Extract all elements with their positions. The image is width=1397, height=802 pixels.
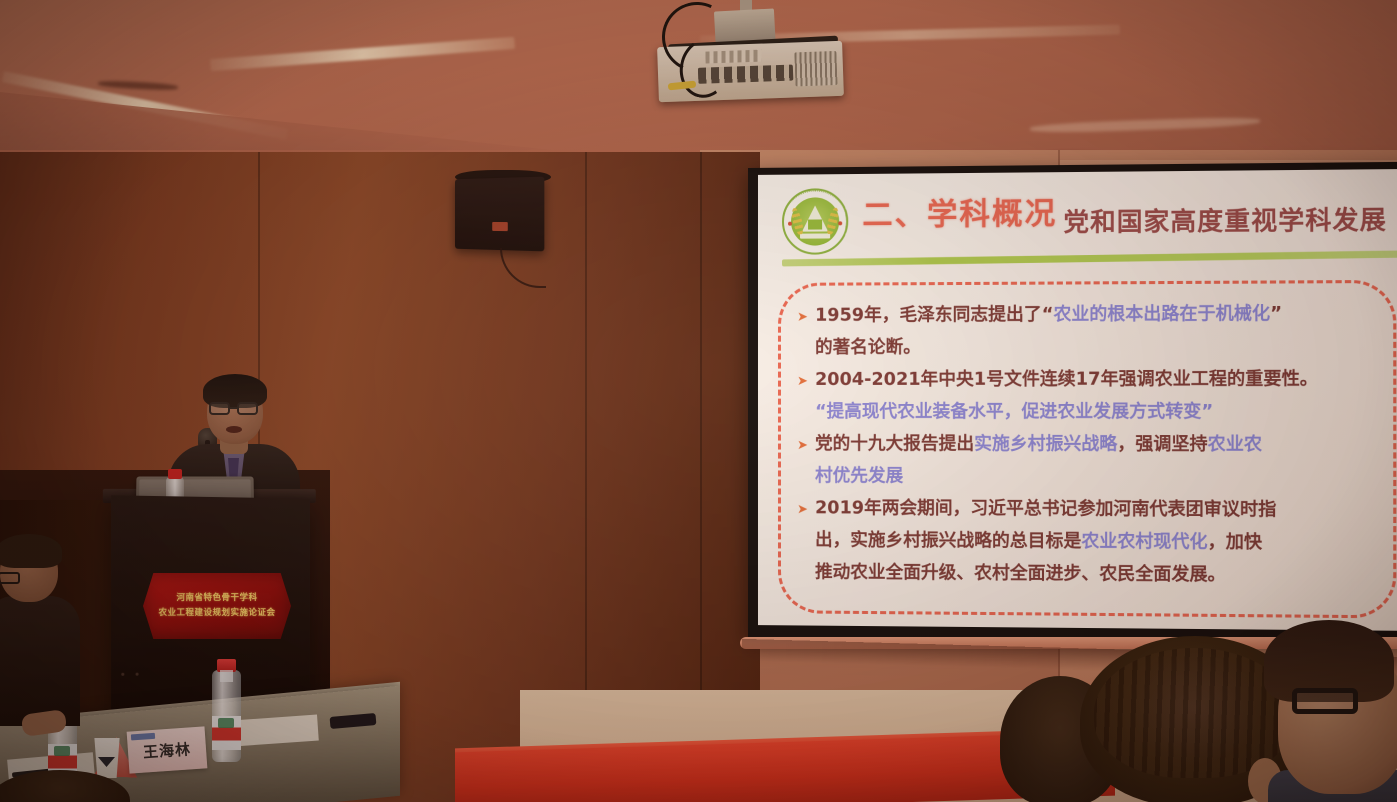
water-bottle	[212, 670, 241, 762]
slide-bullet-line: “提高现代农业装备水平，促进农业发展方式转变”	[798, 397, 1384, 429]
bottle-neck	[220, 670, 233, 682]
wall-speaker	[455, 177, 544, 252]
seated-person-body	[0, 596, 80, 726]
bullet-text: ”	[1270, 304, 1282, 324]
projector-vent	[794, 51, 837, 86]
ceiling-vent	[1030, 116, 1260, 134]
emblem-ring-text	[784, 190, 846, 253]
seated-person-left	[0, 540, 80, 720]
ceiling-projector	[640, 0, 860, 110]
presenter-glasses-bridge	[230, 407, 239, 409]
bullet-text: ，强调坚持	[1117, 434, 1207, 454]
bullet-text: 1959年，毛泽东同志提出了“	[815, 305, 1053, 326]
podium-banner: 河南省特色骨干学科 农业工程建设规划实施论证会	[143, 573, 291, 639]
emblem-star-right	[838, 221, 842, 225]
slide-bullet-line: 推动农业全面升级、农村全面进步、农民全面发展。	[798, 557, 1384, 592]
name-card-text: 王海林	[142, 738, 191, 762]
bullet-text: ，加快	[1208, 532, 1262, 553]
bullet-text: 2019年两会期间，习近平总书记参加河南代表团审议时指	[815, 498, 1276, 520]
projection-screen-frame: 二、学科概况 党和国家高度重视学科发展 1959年，毛泽东同志提出了“农业的根本…	[748, 162, 1397, 644]
audience-glasses	[1292, 688, 1358, 714]
name-card: 王海林	[127, 726, 208, 773]
slide-bullet-line: 1959年，毛泽东同志提出了“农业的根本出路在于机械化”	[798, 298, 1384, 331]
slide-bullet-line: 村优先发展	[798, 461, 1384, 494]
projected-slide: 二、学科概况 党和国家高度重视学科发展 1959年，毛泽东同志提出了“农业的根本…	[758, 169, 1397, 631]
bullet-text: 2004-2021年中央1号文件连续17年强调农业工程的重要性。	[815, 369, 1318, 390]
university-emblem-icon	[782, 188, 848, 255]
podium-banner-line1: 河南省特色骨干学科	[176, 591, 257, 606]
bullet-text: 的著名论断。	[815, 338, 921, 358]
bottle-label	[212, 716, 241, 750]
slide-bullet-line: 2004-2021年中央1号文件连续17年强调农业工程的重要性。	[798, 364, 1384, 396]
presenter-glasses-right	[237, 402, 258, 415]
bullet-highlight-text: 农业农	[1208, 435, 1262, 455]
speaker-logo	[492, 222, 508, 231]
bullet-text: 党的十九大报告提出	[815, 434, 974, 454]
podium-indicator-light	[121, 673, 124, 676]
bullet-highlight-text: 实施乡村振兴战略	[974, 434, 1117, 454]
slide-bullet-list: 1959年，毛泽东同志提出了“农业的根本出路在于机械化”的著名论断。2004-2…	[798, 298, 1384, 593]
bullet-text: 出，实施乡村振兴战略的总目标是	[815, 530, 1081, 552]
presenter-glasses-left	[209, 402, 230, 415]
slide-title: 二、学科概况	[862, 188, 1057, 234]
audience-head-shape	[0, 770, 130, 802]
presenter-mouth	[226, 426, 242, 433]
audience-person-glasses	[1268, 620, 1397, 802]
bullet-highlight-text: 农业农村现代化	[1081, 532, 1207, 553]
slide-bullet-line: 的著名论断。	[798, 331, 1384, 364]
bullet-text: 推动农业全面升级、农村全面进步、农民全面发展。	[815, 562, 1226, 585]
slide-bullet-line: 2019年两会期间，习近平总书记参加河南代表团审议时指	[798, 493, 1384, 527]
slide-bullet-line: 出，实施乡村振兴战略的总目标是农业农村现代化，加快	[798, 525, 1384, 560]
photo-scene: 二、学科概况 党和国家高度重视学科发展 1959年，毛泽东同志提出了“农业的根本…	[0, 0, 1397, 802]
ceiling-light-strip	[210, 37, 515, 71]
podium-banner-line2: 农业工程建设规划实施论证会	[158, 606, 275, 621]
slide-bullet-line: 党的十九大报告提出实施乡村振兴战略，强调坚持农业农	[798, 429, 1384, 461]
slide-header: 二、学科概况 党和国家高度重视学科发展	[758, 169, 1397, 269]
seated-person-hair	[0, 534, 62, 568]
bullet-highlight-text: 村优先发展	[815, 466, 903, 486]
podium-indicator-light	[136, 673, 139, 676]
bullet-highlight-text: 农业的根本出路在于机械化	[1053, 304, 1270, 325]
name-card-tag	[131, 733, 155, 741]
slide-subtitle: 党和国家高度重视学科发展	[1063, 200, 1387, 239]
bottle-cap	[168, 469, 182, 479]
bullet-highlight-text: “提高现代农业装备水平，促进农业发展方式转变”	[815, 402, 1213, 422]
emblem-star-left	[788, 222, 792, 226]
audience-head	[0, 770, 130, 802]
slide-divider-rule	[782, 250, 1397, 266]
seated-person-glasses	[0, 572, 20, 584]
ceiling-vent	[98, 80, 178, 91]
